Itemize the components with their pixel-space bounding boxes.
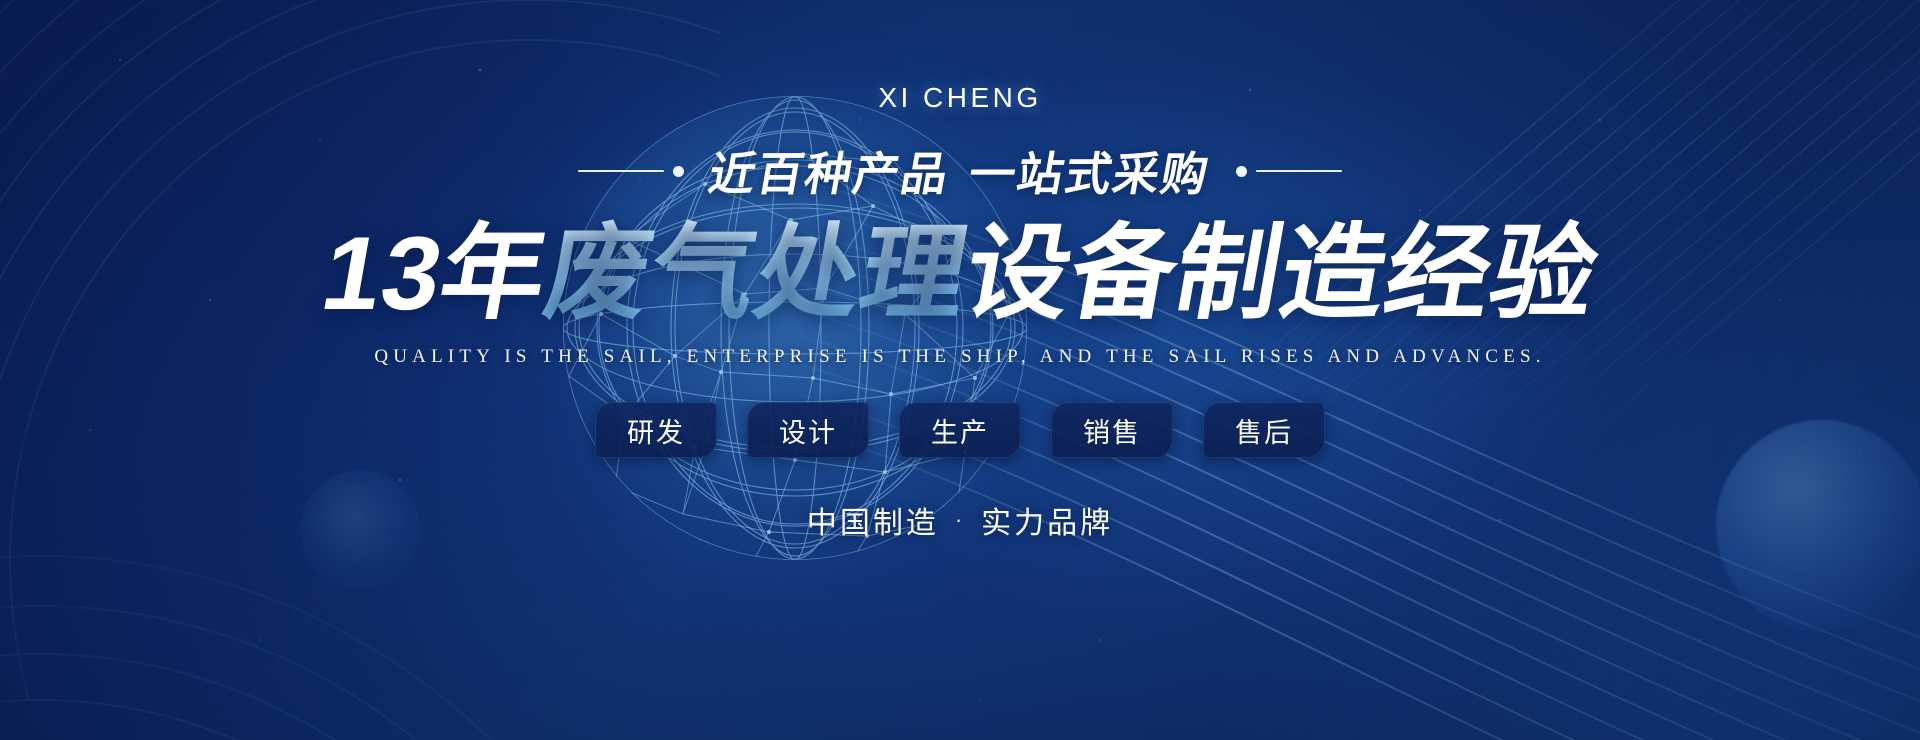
footer-right: 实力品牌 (981, 498, 1113, 542)
service-chip-row: 研发 设计 生产 销售 售后 (595, 402, 1325, 458)
rule-bar (578, 170, 664, 172)
english-tagline: QUALITY IS THE SAIL, ENTERPRISE IS THE S… (374, 346, 1545, 368)
headline: 13年废气处理设备制造经验 (313, 216, 1606, 332)
subtitle-left: 近百种产品 (705, 148, 954, 200)
rule-bar (1256, 170, 1342, 172)
hero-banner: XI CHENG 近百种产品一站式采购 13年废气处理设备制造经验 QUALIT… (0, 0, 1920, 740)
footer-separator: · (955, 507, 965, 533)
decorative-rule-right-icon (1236, 166, 1342, 177)
chip-design[interactable]: 设计 (747, 402, 869, 458)
chip-production[interactable]: 生产 (899, 402, 1021, 458)
footer-left: 中国制造 (807, 498, 939, 542)
subtitle-text: 近百种产品一站式采购 (704, 138, 1216, 204)
brand-name-en: XI CHENG (878, 82, 1041, 114)
headline-tail: 设备制造经验 (956, 216, 1606, 332)
headline-years: 13年 (313, 216, 556, 332)
rule-dot (1236, 166, 1247, 177)
chip-sales[interactable]: 销售 (1051, 402, 1173, 458)
chip-aftersales[interactable]: 售后 (1203, 402, 1325, 458)
decorative-rule-left-icon (578, 166, 684, 177)
chip-research[interactable]: 研发 (595, 402, 717, 458)
headline-highlight: 废气处理 (536, 216, 976, 332)
banner-content: XI CHENG 近百种产品一站式采购 13年废气处理设备制造经验 QUALIT… (0, 0, 1920, 740)
rule-dot (673, 166, 684, 177)
subtitle-right: 一站式采购 (965, 148, 1214, 200)
footer-slogan: 中国制造 · 实力品牌 (807, 498, 1113, 542)
subtitle-row: 近百种产品一站式采购 (578, 138, 1342, 204)
